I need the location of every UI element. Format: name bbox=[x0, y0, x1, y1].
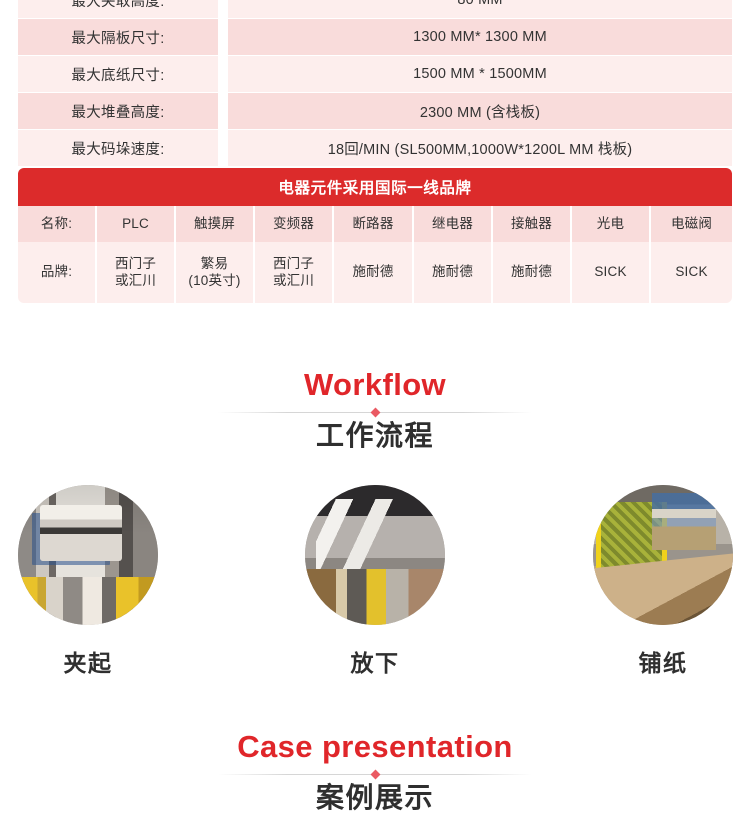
brand-line: 西门子 bbox=[115, 256, 156, 273]
brand-cell-photoelectric: SICK bbox=[572, 242, 651, 303]
step-3-label: 铺纸 bbox=[593, 644, 733, 678]
spec-label: 最大堆叠高度: bbox=[18, 93, 218, 129]
step-3-photo bbox=[593, 485, 733, 625]
spec-value: 18回/MIN (SL500MM,1000W*1200L MM 栈板) bbox=[228, 130, 732, 166]
brand-line: 西门子 bbox=[273, 256, 314, 273]
spec-value: 2300 MM (含栈板) bbox=[228, 93, 732, 129]
brand-line: 繁易 bbox=[188, 256, 240, 273]
spec-label: 最大底纸尺寸: bbox=[18, 56, 218, 92]
brand-cell-inverter: 西门子或汇川 bbox=[255, 242, 334, 303]
case-section-heading: Case presentation 案例展示 bbox=[0, 730, 750, 814]
table-row-names: 名称: PLC 触摸屏 变频器 断路器 继电器 接触器 光电 电磁阀 bbox=[18, 206, 732, 242]
table-row-brands: 品牌: 西门子或汇川 繁易(10英寸) 西门子或汇川 施耐德 施耐德 施耐德 S… bbox=[18, 242, 732, 303]
brand-cell-touchscreen: 繁易(10英寸) bbox=[176, 242, 255, 303]
heading-divider bbox=[218, 412, 532, 413]
step-2-label: 放下 bbox=[305, 644, 445, 678]
table-row: 最大隔板尺寸: 1300 MM* 1300 MM bbox=[18, 19, 732, 55]
workflow-title-cn: 工作流程 bbox=[0, 420, 750, 452]
workflow-title-en: Workflow bbox=[0, 368, 750, 403]
workflow-section-heading: Workflow 工作流程 bbox=[0, 368, 750, 452]
brand-line: 或汇川 bbox=[115, 273, 156, 290]
workflow-step-1: 夹起 bbox=[18, 485, 158, 678]
name-cell-touchscreen: 触摸屏 bbox=[176, 206, 255, 242]
name-cell-inverter: 变频器 bbox=[255, 206, 334, 242]
spec-label: 最大隔板尺寸: bbox=[18, 19, 218, 55]
workflow-step-2: 放下 bbox=[305, 485, 445, 678]
brand-line: 或汇川 bbox=[273, 273, 314, 290]
table-row: 最大码垛速度: 18回/MIN (SL500MM,1000W*1200L MM … bbox=[18, 130, 732, 166]
specification-table: 最大夹取高度: 80 MM 最大隔板尺寸: 1300 MM* 1300 MM 最… bbox=[18, 0, 732, 167]
spec-value: 1500 MM * 1500MM bbox=[228, 56, 732, 92]
electrical-component-brand-table: 电器元件采用国际一线品牌 名称: PLC 触摸屏 变频器 断路器 继电器 接触器… bbox=[18, 168, 732, 303]
spec-value: 80 MM bbox=[228, 0, 732, 18]
column-gap bbox=[218, 0, 228, 18]
name-cell-plc: PLC bbox=[97, 206, 176, 242]
name-cell-photoelectric: 光电 bbox=[572, 206, 651, 242]
brand-line: (10英寸) bbox=[188, 273, 240, 290]
product-detail-page: 最大夹取高度: 80 MM 最大隔板尺寸: 1300 MM* 1300 MM 最… bbox=[0, 0, 750, 822]
case-title-cn: 案例展示 bbox=[0, 782, 750, 814]
row-label-name: 名称: bbox=[18, 206, 97, 242]
diamond-icon bbox=[370, 407, 380, 417]
column-gap bbox=[218, 130, 228, 166]
name-cell-breaker: 断路器 bbox=[334, 206, 414, 242]
column-gap bbox=[218, 19, 228, 55]
case-title-en: Case presentation bbox=[0, 730, 750, 765]
table-row: 最大底纸尺寸: 1500 MM * 1500MM bbox=[18, 56, 732, 92]
brand-cell-solenoid: SICK bbox=[651, 242, 732, 303]
brand-cell-contactor: 施耐德 bbox=[493, 242, 572, 303]
brand-table-header: 电器元件采用国际一线品牌 bbox=[18, 168, 732, 206]
workflow-steps: 夹起 放下 铺纸 bbox=[0, 485, 750, 675]
heading-divider bbox=[218, 774, 532, 775]
step-1-photo bbox=[18, 485, 158, 625]
name-cell-contactor: 接触器 bbox=[493, 206, 572, 242]
spec-label: 最大码垛速度: bbox=[18, 130, 218, 166]
name-cell-solenoid: 电磁阀 bbox=[651, 206, 732, 242]
step-2-photo bbox=[305, 485, 445, 625]
workflow-step-3: 铺纸 bbox=[593, 485, 733, 678]
name-cell-relay: 继电器 bbox=[414, 206, 493, 242]
column-gap bbox=[218, 93, 228, 129]
brand-cell-plc: 西门子或汇川 bbox=[97, 242, 176, 303]
table-row: 最大夹取高度: 80 MM bbox=[18, 0, 732, 18]
spec-label: 最大夹取高度: bbox=[18, 0, 218, 18]
table-row: 最大堆叠高度: 2300 MM (含栈板) bbox=[18, 93, 732, 129]
row-label-brand: 品牌: bbox=[18, 242, 97, 303]
spec-value: 1300 MM* 1300 MM bbox=[228, 19, 732, 55]
brand-cell-breaker: 施耐德 bbox=[334, 242, 414, 303]
diamond-icon bbox=[370, 769, 380, 779]
column-gap bbox=[218, 56, 228, 92]
step-1-label: 夹起 bbox=[18, 644, 158, 678]
brand-cell-relay: 施耐德 bbox=[414, 242, 493, 303]
